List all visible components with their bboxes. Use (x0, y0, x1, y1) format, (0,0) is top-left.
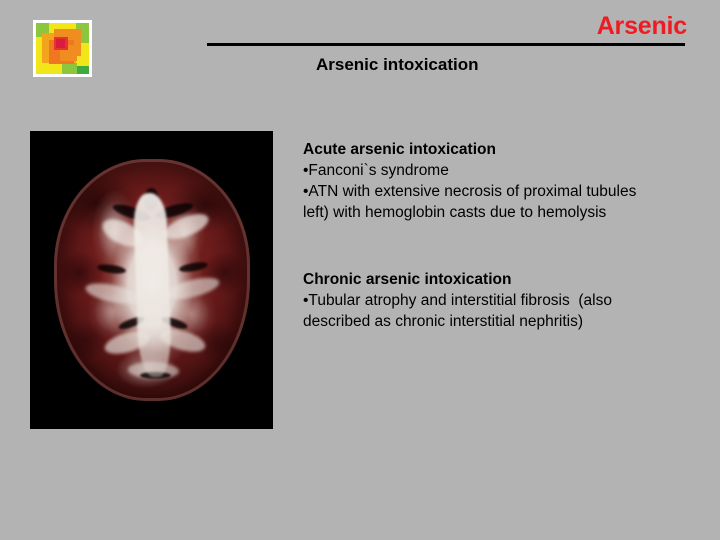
acute-bullet-2-line-2: left) with hemoglobin casts due to hemol… (303, 202, 699, 223)
logo-inner (36, 23, 89, 74)
hemorrhagic-fissure (161, 315, 190, 332)
chronic-section-heading: Chronic arsenic intoxication (303, 269, 699, 290)
nested-squares-logo-icon (33, 20, 92, 77)
medulla-wisp (128, 361, 180, 380)
hemorrhagic-fissure (178, 261, 208, 274)
medulla-wisp (103, 327, 154, 359)
medulla-wisp (164, 274, 221, 304)
hemorrhagic-fissure (143, 188, 158, 211)
logo-square-green-dark (77, 66, 89, 74)
acute-bullet-2-line-1: •ATN with extensive necrosis of proximal… (303, 181, 699, 202)
chronic-bullet-1-line-1: •Tubular atrophy and interstitial fibros… (303, 290, 699, 311)
hemorrhagic-fissure (118, 314, 147, 331)
medulla-wisp (158, 325, 209, 357)
logo-square-green-bottom (62, 63, 77, 74)
hemorrhagic-fissure (155, 200, 196, 221)
kidney-gross-photo (30, 131, 273, 429)
hemorrhagic-fissure (140, 372, 171, 379)
acute-section-heading: Acute arsenic intoxication (303, 139, 699, 160)
logo-square-red-core (56, 39, 65, 48)
body-text-column: Acute arsenic intoxication •Fanconi`s sy… (303, 139, 699, 332)
medulla-wisp (98, 214, 146, 252)
page-title: Arsenic intoxication (316, 54, 478, 76)
header-divider-rule (207, 43, 685, 46)
slide-canvas: Arsenic Arsenic intoxication Acute arsen… (0, 0, 720, 540)
chronic-bullet-1-line-2: described as chronic interstitial nephri… (303, 311, 699, 332)
hemorrhagic-fissure (96, 263, 126, 275)
header-kicker-arsenic: Arsenic (597, 12, 687, 40)
section-spacer (303, 223, 699, 269)
hemorrhagic-fissure (112, 202, 153, 224)
medulla-wisp (84, 279, 141, 307)
acute-bullet-1: •Fanconi`s syndrome (303, 160, 699, 181)
medulla-wisp (161, 209, 212, 245)
kidney-specimen (54, 159, 250, 401)
